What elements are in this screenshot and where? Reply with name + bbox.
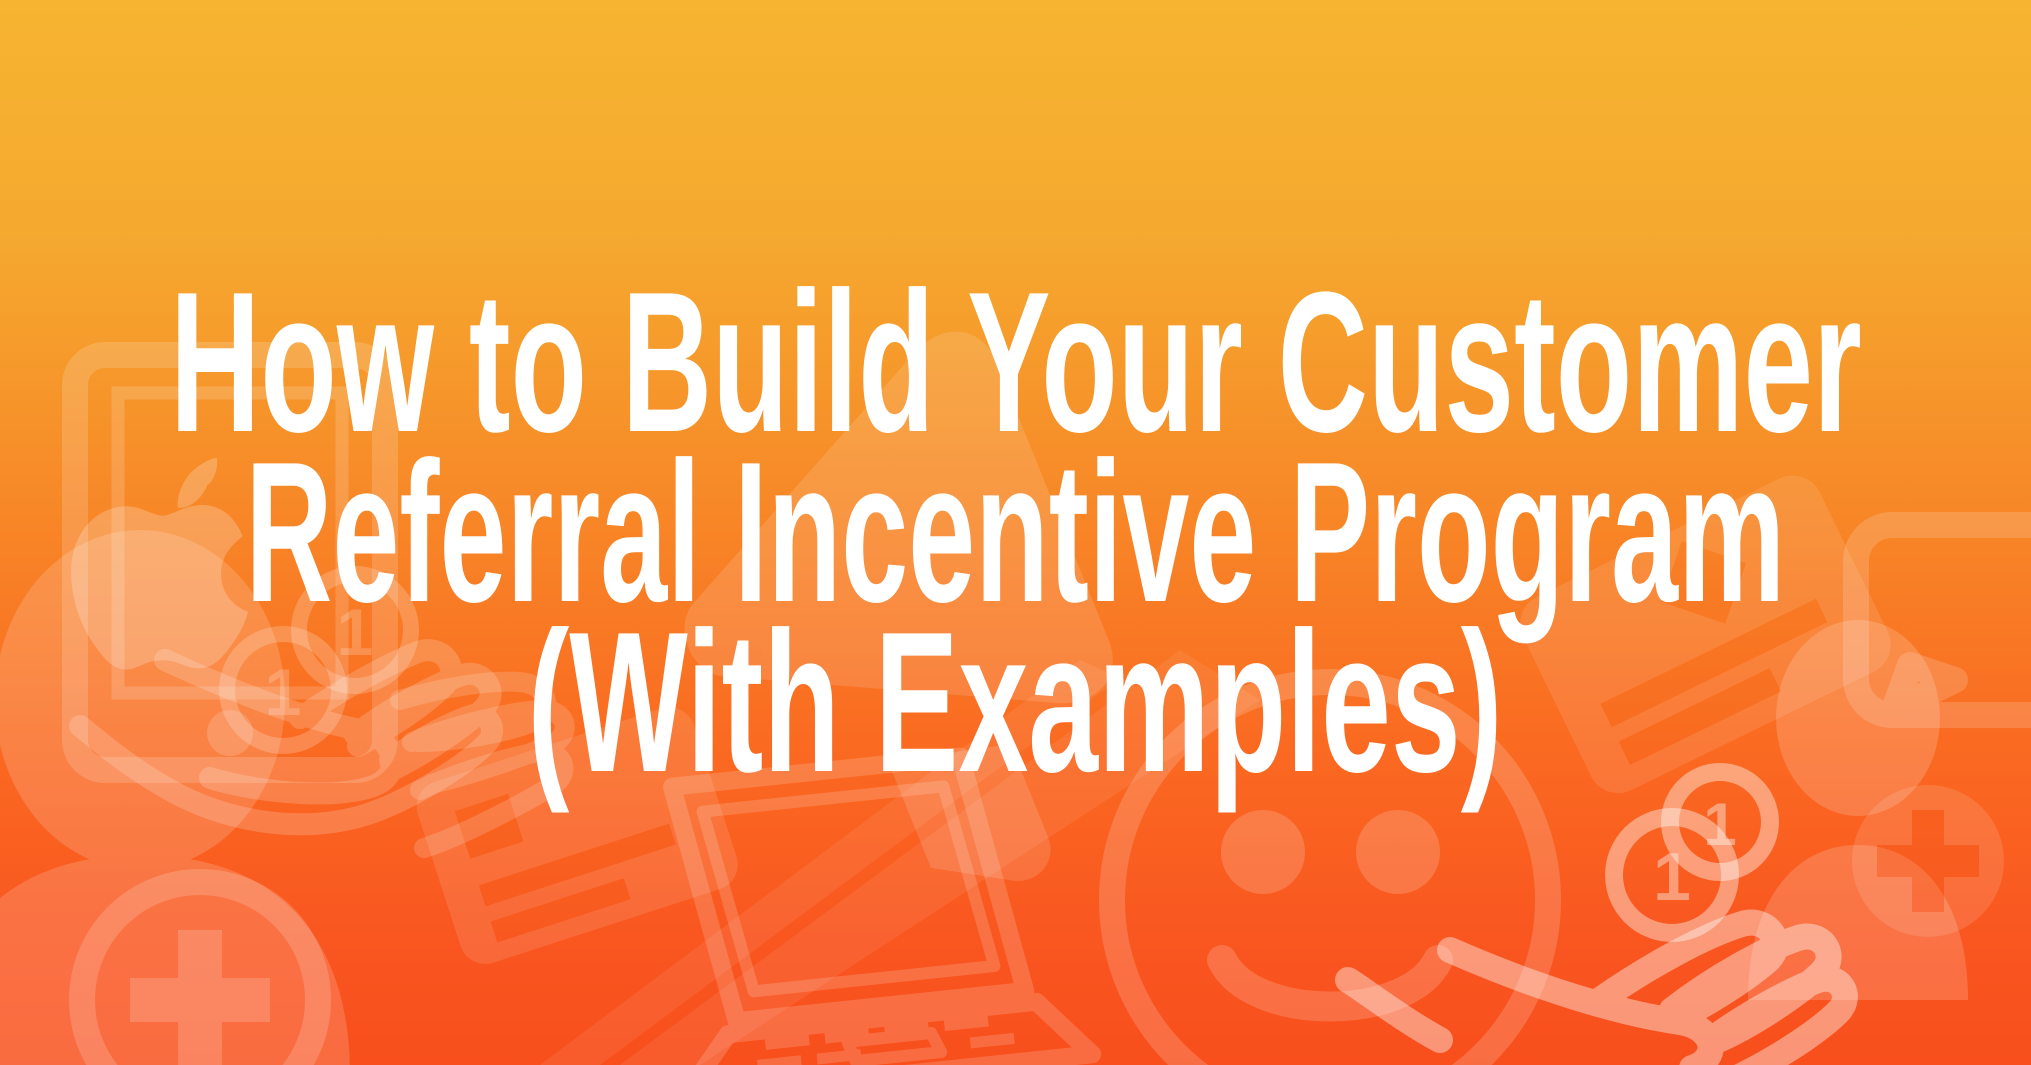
banner-hero: 1 1 bbox=[0, 0, 2031, 1065]
title-line-3: (With Examples) bbox=[528, 615, 1503, 791]
banner-title: How to Build Your Customer Referral Ince… bbox=[0, 0, 2031, 1065]
